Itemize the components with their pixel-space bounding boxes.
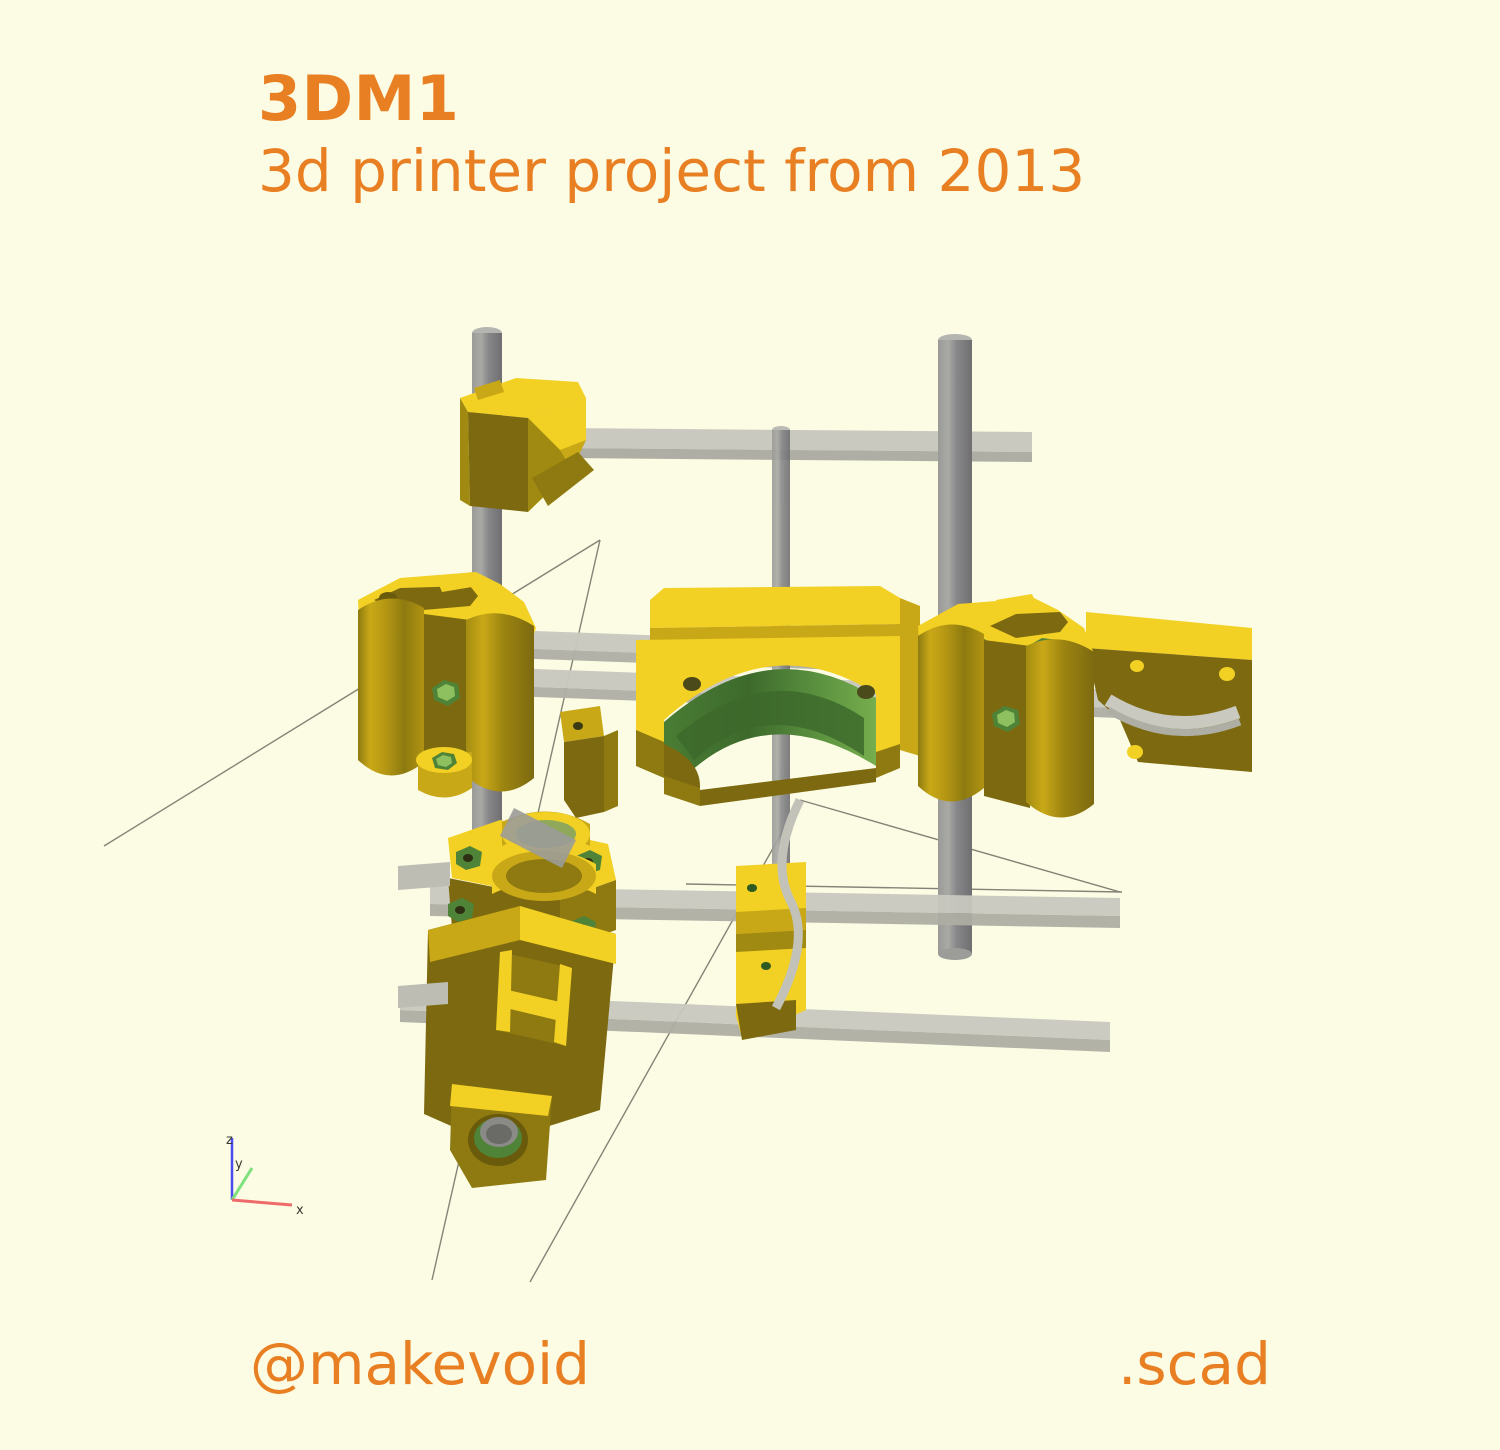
axis-label-z: z [226,1133,233,1148]
file-extension-label: .scad [1118,1330,1271,1398]
openscad-render-canvas: z y x 3DM1 3d printer project from 2013 … [0,0,1500,1450]
small-bracket[interactable] [560,706,618,818]
left-bearing-block[interactable] [358,572,536,798]
right-bearing-block[interactable] [918,594,1252,818]
page-subtitle: 3d printer project from 2013 [258,138,1085,205]
rail-clip[interactable] [736,800,806,1040]
axis-label-x: x [296,1203,304,1218]
model-viewport[interactable] [0,0,1500,1450]
title-block: 3DM1 3d printer project from 2013 [258,68,1085,205]
author-handle: @makevoid [250,1330,590,1398]
axis-label-y: y [235,1157,243,1172]
z-top-rod-bracket[interactable] [460,378,594,512]
page-title: 3DM1 [258,68,1085,130]
motor-mount[interactable] [398,808,616,1188]
